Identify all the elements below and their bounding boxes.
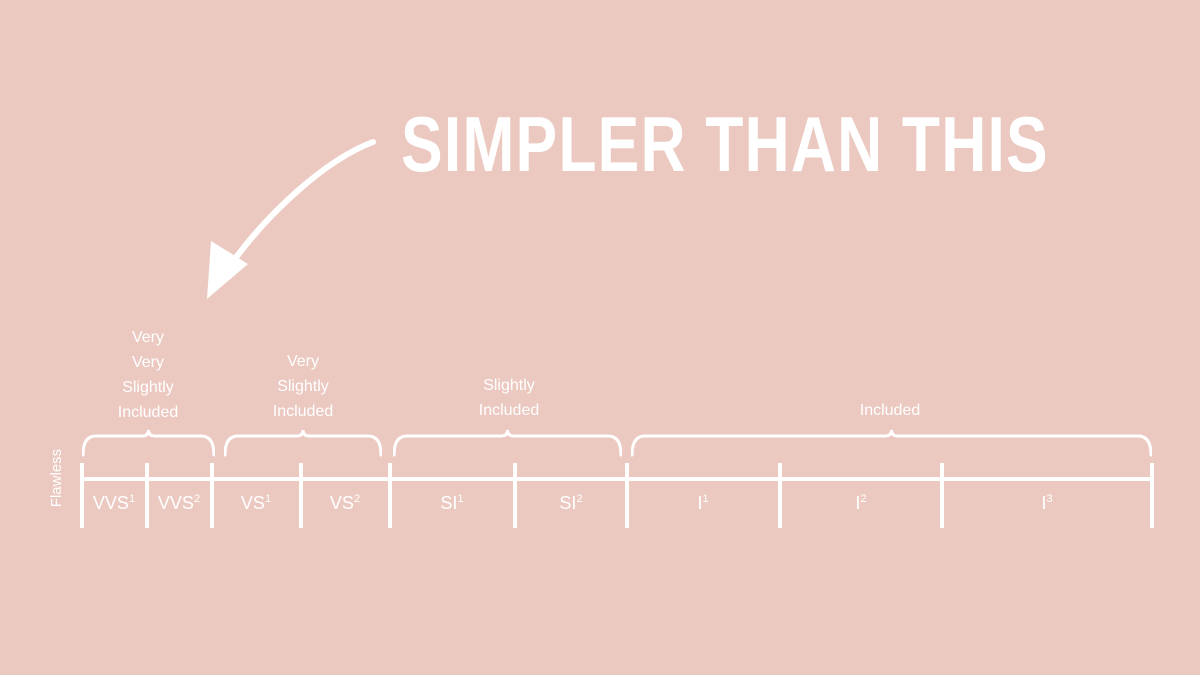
- scale-tick-9: [1150, 463, 1154, 528]
- group-brace-1: [224, 428, 382, 458]
- group-brace-2: [393, 428, 622, 458]
- grade-label-i1: I1: [643, 492, 763, 514]
- grade-label-i2: I2: [801, 492, 921, 514]
- scale-tick-8: [940, 463, 944, 528]
- clarity-scale: Flawless VVS1VVS2VS1VS2SI1SI2I1I2I3 Very…: [0, 0, 1200, 675]
- scale-tick-7: [778, 463, 782, 528]
- grade-label-si2: SI2: [511, 492, 631, 514]
- grade-label-i3: I3: [987, 492, 1107, 514]
- grade-label-si1: SI1: [392, 492, 512, 514]
- group-brace-0: [82, 428, 215, 458]
- axis-label-flawless: Flawless: [49, 418, 65, 538]
- grade-label-vs2: VS2: [285, 492, 405, 514]
- group-label-3: Included: [740, 398, 1040, 423]
- slide-canvas: SIMPLER THAN THIS Flawless VVS1VVS2VS1VS…: [0, 0, 1200, 675]
- group-brace-3: [631, 428, 1152, 458]
- group-label-2: Slightly Included: [359, 373, 659, 423]
- scale-axis-line: [81, 477, 1153, 481]
